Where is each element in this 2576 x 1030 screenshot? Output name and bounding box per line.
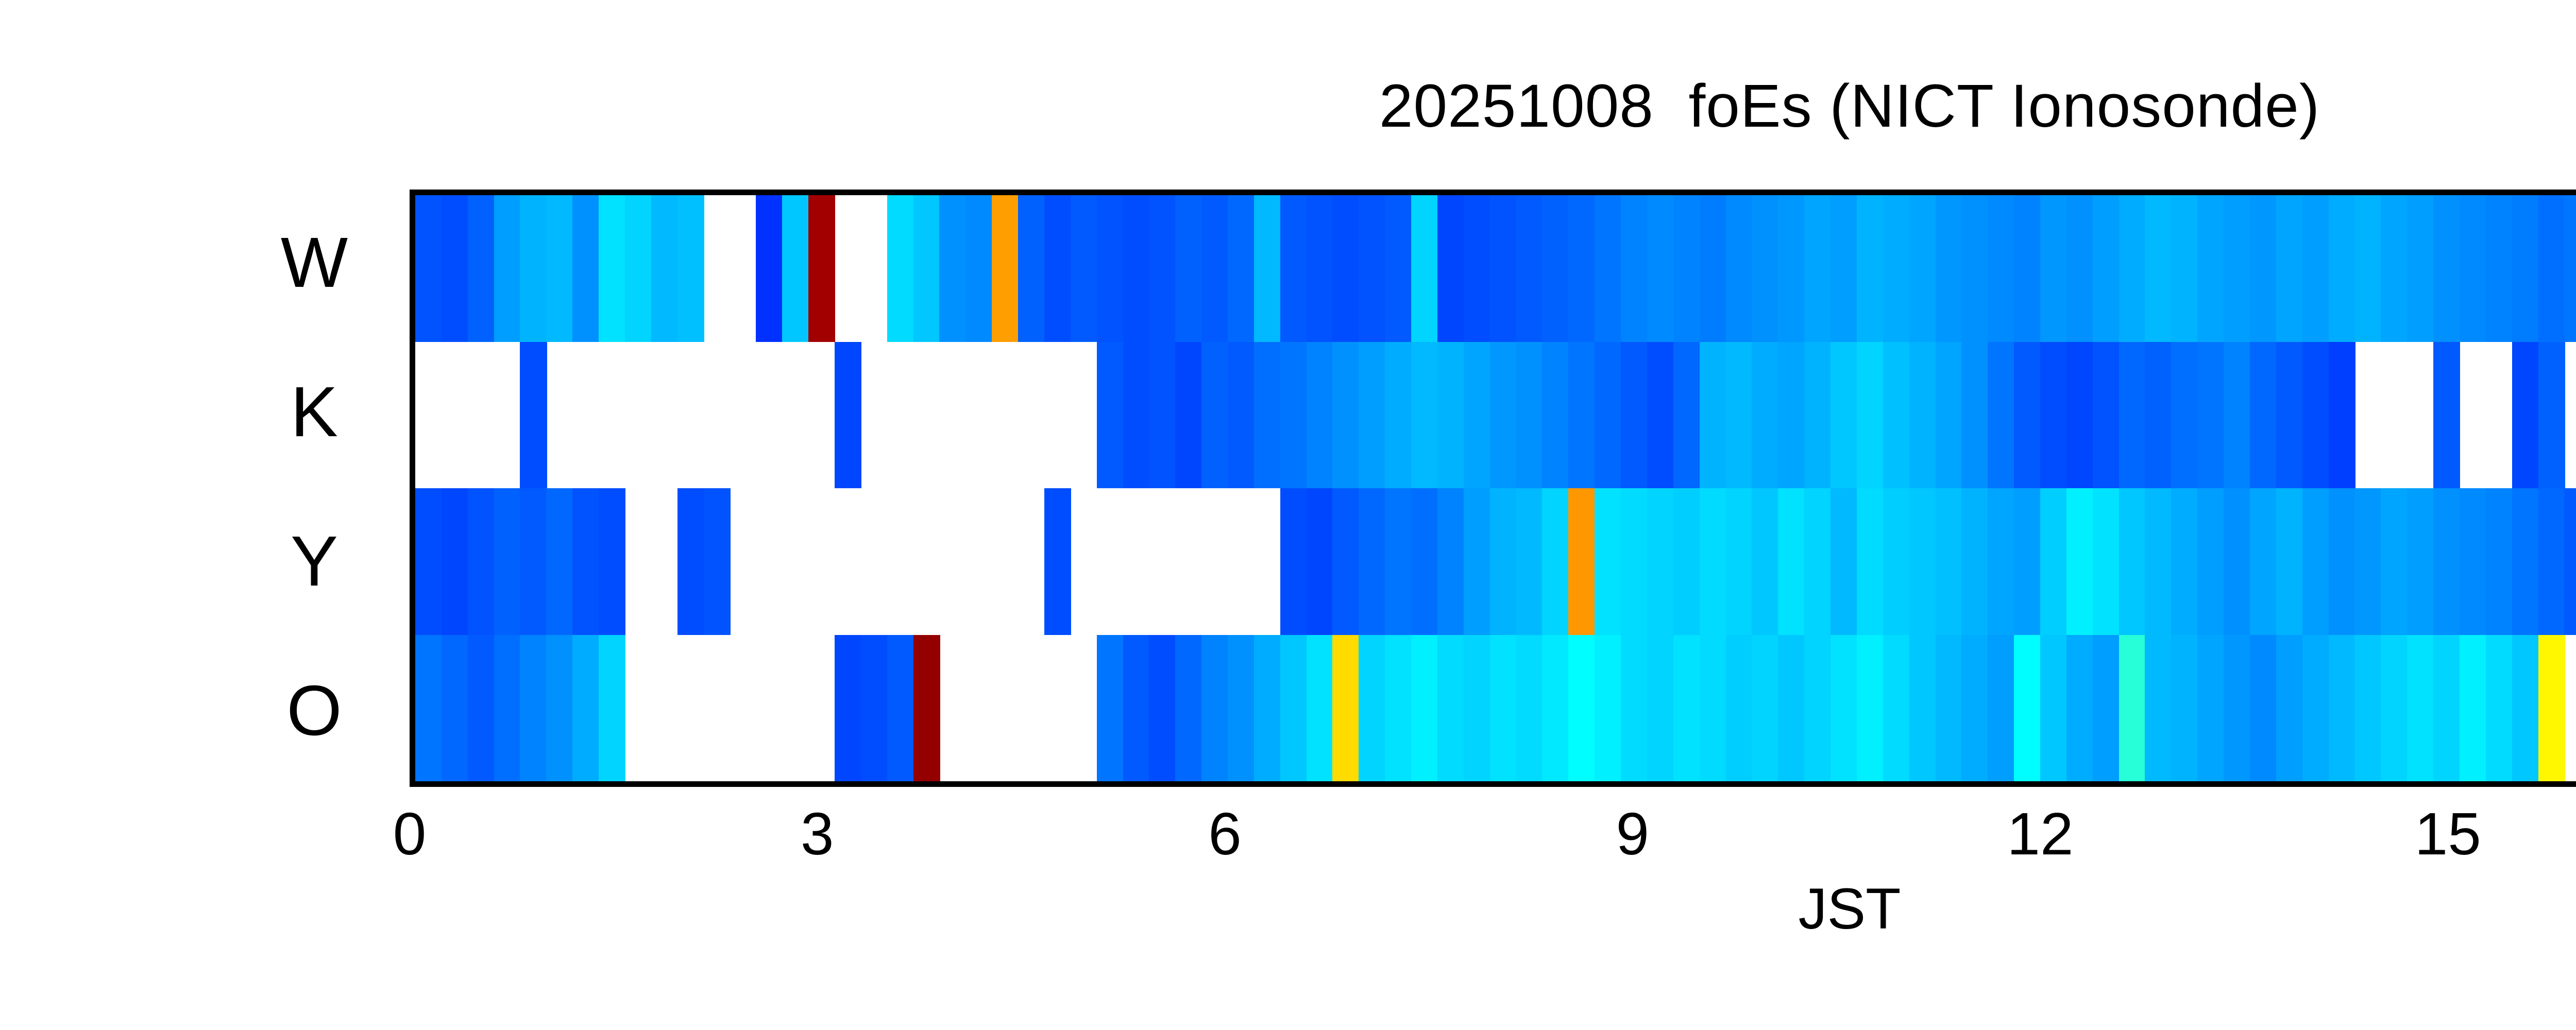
heatmap-cell	[2171, 488, 2198, 635]
heatmap-cell	[2014, 488, 2041, 635]
heatmap-cell	[2329, 488, 2355, 635]
heatmap-cell	[1044, 488, 1071, 635]
heatmap-cell	[1175, 635, 1202, 782]
x-axis-tick-0: 0	[343, 799, 477, 868]
heatmap-cell	[1700, 195, 1726, 342]
heatmap-cell	[2564, 195, 2576, 342]
heatmap-row-track	[415, 195, 2576, 342]
heatmap-cell	[2354, 488, 2381, 635]
heatmap-cell	[2014, 195, 2041, 342]
heatmap-cell	[494, 488, 521, 635]
heatmap-cell	[1359, 488, 1385, 635]
heatmap-row-track	[415, 635, 2576, 782]
heatmap-row-y	[415, 488, 2576, 635]
heatmap-cell	[1700, 635, 1726, 782]
heatmap-cell	[2119, 635, 2146, 782]
heatmap-cell	[1149, 195, 1176, 342]
heatmap-cell	[2433, 635, 2460, 782]
heatmap-cell	[1149, 342, 1176, 489]
heatmap-cell	[1673, 342, 1700, 489]
y-axis-label-k: K	[247, 376, 381, 448]
heatmap-cell	[1097, 342, 1124, 489]
heatmap-cell	[2040, 635, 2067, 782]
heatmap-cell	[1437, 488, 1464, 635]
heatmap-cell	[1673, 635, 1700, 782]
heatmap-cell	[415, 635, 442, 782]
heatmap-cell	[1307, 488, 1333, 635]
heatmap-cell	[2093, 635, 2120, 782]
heatmap-cell	[1857, 342, 1884, 489]
heatmap-cell	[1516, 195, 1543, 342]
heatmap-cell	[1464, 488, 1490, 635]
y-axis-label-o: O	[247, 675, 381, 746]
heatmap-cell	[2171, 342, 2198, 489]
heatmap-cell	[2354, 635, 2381, 782]
heatmap-cell	[1936, 635, 1962, 782]
heatmap-cell	[1228, 635, 1255, 782]
heatmap-cell	[2538, 488, 2565, 635]
heatmap-cell	[2197, 195, 2224, 342]
heatmap-cell	[1411, 195, 1438, 342]
heatmap-cell	[887, 635, 914, 782]
heatmap-cell	[1595, 488, 1621, 635]
heatmap-cell	[2433, 342, 2460, 489]
heatmap-cell	[1175, 195, 1202, 342]
heatmap-cell	[1359, 195, 1385, 342]
heatmap-cell	[2538, 342, 2565, 489]
heatmap-cell	[2119, 488, 2146, 635]
heatmap-cell	[599, 635, 625, 782]
heatmap-cell	[1909, 342, 1936, 489]
heatmap-cell	[1123, 635, 1150, 782]
heatmap-cell	[1831, 488, 1857, 635]
heatmap-cell	[1201, 342, 1228, 489]
heatmap-cell	[1254, 195, 1281, 342]
heatmap-cell	[2093, 195, 2120, 342]
heatmap-cell	[442, 195, 468, 342]
heatmap-cell	[992, 195, 1019, 342]
x-axis-tick-3: 3	[750, 799, 884, 868]
heatmap-cell	[677, 488, 704, 635]
heatmap-cell	[1359, 342, 1385, 489]
heatmap-cell	[2538, 635, 2565, 782]
heatmap-cell	[2302, 635, 2329, 782]
heatmap-cell	[2512, 635, 2539, 782]
heatmap-cell	[651, 195, 678, 342]
heatmap-cell	[2302, 195, 2329, 342]
heatmap-cell	[2119, 195, 2146, 342]
heatmap-cell	[1778, 635, 1805, 782]
x-axis-tick-15: 15	[2381, 799, 2515, 868]
heatmap-cell	[1097, 635, 1124, 782]
heatmap-cell	[1568, 488, 1595, 635]
heatmap-cell	[2407, 195, 2434, 342]
heatmap-cell	[1595, 635, 1621, 782]
heatmap-cell	[1804, 195, 1831, 342]
heatmap-cell	[913, 195, 940, 342]
heatmap-cell	[1175, 342, 1202, 489]
heatmap-cell	[2040, 342, 2067, 489]
heatmap-cell	[1936, 342, 1962, 489]
heatmap-cell	[1804, 488, 1831, 635]
heatmap-cell	[1464, 195, 1490, 342]
heatmap-cell	[1988, 635, 2014, 782]
heatmap-row-w	[415, 195, 2576, 342]
heatmap-cell	[1883, 195, 1910, 342]
heatmap-row-track	[415, 488, 2576, 635]
heatmap-cell	[599, 488, 625, 635]
heatmap-cell	[2040, 488, 2067, 635]
heatmap-cell	[1385, 195, 1412, 342]
heatmap-cell	[2512, 195, 2539, 342]
heatmap-cell	[1542, 635, 1569, 782]
heatmap-cell	[2093, 342, 2120, 489]
heatmap-cell	[520, 488, 547, 635]
heatmap-cell	[2171, 195, 2198, 342]
x-axis-tick-9: 9	[1566, 799, 1700, 868]
heatmap-cell	[1568, 195, 1595, 342]
heatmap-cell	[2197, 635, 2224, 782]
heatmap-cell	[1411, 342, 1438, 489]
heatmap-cell	[468, 195, 495, 342]
heatmap-cell	[939, 195, 966, 342]
heatmap-cell	[1516, 488, 1543, 635]
heatmap-row-k	[415, 342, 2576, 489]
heatmap-cell	[1332, 488, 1359, 635]
heatmap-cell	[2197, 488, 2224, 635]
heatmap-cell	[572, 488, 599, 635]
heatmap-cell	[572, 195, 599, 342]
heatmap-cell	[1647, 488, 1674, 635]
heatmap-cell	[1883, 488, 1910, 635]
heatmap-cell	[1726, 195, 1753, 342]
figure-title: 20251008 foEs (NICT Ionosonde)	[0, 71, 2576, 141]
heatmap-cell	[1516, 342, 1543, 489]
heatmap-rows	[415, 195, 2576, 781]
heatmap-cell	[1961, 635, 1988, 782]
heatmap-cell	[1044, 195, 1071, 342]
heatmap-cell	[1700, 488, 1726, 635]
heatmap-cell	[887, 195, 914, 342]
heatmap-cell	[1071, 195, 1097, 342]
heatmap-cell	[2250, 342, 2277, 489]
heatmap-cell	[1097, 195, 1124, 342]
heatmap-cell	[468, 635, 495, 782]
heatmap-cell	[2145, 195, 2172, 342]
heatmap-cell	[1568, 635, 1595, 782]
heatmap-cell	[1280, 488, 1307, 635]
heatmap-cell	[1726, 488, 1753, 635]
heatmap-cell	[1359, 635, 1385, 782]
heatmap-cell	[625, 195, 652, 342]
heatmap-cell	[1988, 488, 2014, 635]
heatmap-cell	[1647, 635, 1674, 782]
heatmap-cell	[1464, 342, 1490, 489]
heatmap-cell	[2329, 195, 2355, 342]
heatmap-cell	[494, 195, 521, 342]
heatmap-cell	[2329, 635, 2355, 782]
heatmap-cell	[1228, 195, 1255, 342]
heatmap-cell	[2040, 195, 2067, 342]
heatmap-cell	[782, 195, 809, 342]
heatmap-cell	[835, 342, 861, 489]
heatmap-cell	[1254, 635, 1281, 782]
heatmap-cell	[1857, 635, 1884, 782]
y-axis-label-w: W	[247, 227, 381, 298]
heatmap-cell	[2302, 488, 2329, 635]
heatmap-cell	[756, 195, 783, 342]
heatmap-cell	[1700, 342, 1726, 489]
heatmap-cell	[2171, 635, 2198, 782]
heatmap-cell	[1595, 342, 1621, 489]
heatmap-cell	[1909, 195, 1936, 342]
heatmap-cell	[546, 488, 573, 635]
heatmap-cell	[2224, 488, 2250, 635]
heatmap-cell	[2433, 488, 2460, 635]
heatmap-cell	[2119, 342, 2146, 489]
heatmap-cell	[1804, 635, 1831, 782]
heatmap-cell	[2276, 195, 2303, 342]
heatmap-cell	[1647, 342, 1674, 489]
heatmap-cell	[2329, 342, 2355, 489]
heatmap-cell	[2145, 488, 2172, 635]
heatmap-cell	[520, 195, 547, 342]
heatmap-cell	[1307, 635, 1333, 782]
figure-root: 20251008 foEs (NICT Ionosonde) WKYO 0369…	[0, 0, 2576, 1030]
heatmap-cell	[2066, 342, 2093, 489]
heatmap-cell	[2486, 635, 2513, 782]
heatmap-cell	[965, 195, 992, 342]
heatmap-cell	[1804, 342, 1831, 489]
heatmap-cell	[1673, 488, 1700, 635]
heatmap-cell	[546, 635, 573, 782]
heatmap-cell	[913, 635, 940, 782]
heatmap-cell	[2093, 488, 2120, 635]
heatmap-cell	[2145, 342, 2172, 489]
heatmap-cell	[1726, 342, 1753, 489]
heatmap-cell	[1437, 635, 1464, 782]
heatmap-cell	[2145, 635, 2172, 782]
heatmap-cell	[1778, 488, 1805, 635]
heatmap-cell	[415, 488, 442, 635]
heatmap-cell	[1909, 635, 1936, 782]
heatmap-cell	[2250, 488, 2277, 635]
heatmap-cell	[1778, 195, 1805, 342]
heatmap-cell	[1332, 635, 1359, 782]
heatmap-cell	[677, 195, 704, 342]
heatmap-cell	[1332, 195, 1359, 342]
heatmap-cell	[1437, 342, 1464, 489]
heatmap-cell	[1280, 635, 1307, 782]
heatmap-cell	[1831, 635, 1857, 782]
heatmap-row-track	[415, 342, 2576, 489]
heatmap-cell	[1542, 195, 1569, 342]
heatmap-cell	[520, 342, 547, 489]
heatmap-cell	[1961, 342, 1988, 489]
heatmap-cell	[1385, 342, 1412, 489]
heatmap-cell	[1647, 195, 1674, 342]
heatmap-cell	[2302, 342, 2329, 489]
heatmap-cell	[835, 635, 861, 782]
heatmap-cell	[2381, 488, 2408, 635]
heatmap-cell	[2512, 488, 2539, 635]
heatmap-cell	[2250, 635, 2277, 782]
heatmap-cell	[1961, 195, 1988, 342]
heatmap-cell	[1568, 342, 1595, 489]
heatmap-cell	[1621, 195, 1648, 342]
heatmap-cell	[1437, 195, 1464, 342]
x-axis-tick-12: 12	[1973, 799, 2107, 868]
heatmap-cell	[1883, 635, 1910, 782]
heatmap-cell	[572, 635, 599, 782]
heatmap-cell	[1201, 195, 1228, 342]
heatmap-cell	[2407, 635, 2434, 782]
heatmap-cell	[1464, 635, 1490, 782]
heatmap-cell	[1726, 635, 1753, 782]
heatmap-cell	[1123, 195, 1150, 342]
heatmap-cell	[1936, 488, 1962, 635]
heatmap-cell	[546, 195, 573, 342]
heatmap-cell	[2381, 635, 2408, 782]
heatmap-cell	[1673, 195, 1700, 342]
heatmap-cell	[415, 195, 442, 342]
heatmap-cell	[2276, 342, 2303, 489]
heatmap-cell	[599, 195, 625, 342]
heatmap-cell	[1018, 195, 1045, 342]
heatmap-cell	[2433, 195, 2460, 342]
heatmap-cell	[1621, 488, 1648, 635]
heatmap-cell	[1621, 635, 1648, 782]
heatmap-cell	[1752, 195, 1778, 342]
heatmap-cell	[1307, 195, 1333, 342]
heatmap-cell	[1909, 488, 1936, 635]
heatmap-cell	[468, 488, 495, 635]
heatmap-cell	[1254, 342, 1281, 489]
heatmap-cell	[1332, 342, 1359, 489]
heatmap-cell	[520, 635, 547, 782]
heatmap-cell	[2564, 488, 2576, 635]
heatmap-cell	[1961, 488, 1988, 635]
heatmap-cell	[1542, 342, 1569, 489]
heatmap-cell	[494, 635, 521, 782]
heatmap-cell	[1307, 342, 1333, 489]
heatmap-cell	[1831, 342, 1857, 489]
heatmap-cell	[2354, 195, 2381, 342]
heatmap-cell	[1280, 342, 1307, 489]
y-axis-label-y: Y	[247, 526, 381, 597]
heatmap-cell	[1988, 342, 2014, 489]
heatmap-cell	[2224, 342, 2250, 489]
heatmap-cell	[1936, 195, 1962, 342]
heatmap-cell	[2512, 342, 2539, 489]
heatmap-cell	[1988, 195, 2014, 342]
heatmap-cell	[1201, 635, 1228, 782]
heatmap-cell	[442, 488, 468, 635]
heatmap-cell	[1385, 635, 1412, 782]
heatmap-cell	[704, 488, 731, 635]
heatmap-cell	[2014, 342, 2041, 489]
heatmap-cell	[2486, 195, 2513, 342]
heatmap-cell	[2460, 635, 2486, 782]
heatmap-cell	[2066, 635, 2093, 782]
heatmap-cell	[1621, 342, 1648, 489]
heatmap-cell	[808, 195, 835, 342]
heatmap-plot-area	[410, 190, 2576, 787]
heatmap-cell	[2276, 635, 2303, 782]
heatmap-cell	[2460, 195, 2486, 342]
x-axis-tick-6: 6	[1158, 799, 1292, 868]
heatmap-cell	[2460, 488, 2486, 635]
heatmap-cell	[1411, 635, 1438, 782]
heatmap-cell	[1831, 195, 1857, 342]
heatmap-cell	[1385, 488, 1412, 635]
heatmap-cell	[1123, 342, 1150, 489]
heatmap-cell	[2250, 195, 2277, 342]
heatmap-cell	[1752, 635, 1778, 782]
heatmap-cell	[1411, 488, 1438, 635]
heatmap-cell	[2014, 635, 2041, 782]
heatmap-cell	[1516, 635, 1543, 782]
heatmap-cell	[1857, 195, 1884, 342]
heatmap-cell	[2486, 488, 2513, 635]
heatmap-cell	[442, 635, 468, 782]
heatmap-row-o	[415, 635, 2576, 782]
x-axis-title: JST	[0, 875, 2576, 942]
heatmap-cell	[2276, 488, 2303, 635]
heatmap-cell	[1280, 195, 1307, 342]
heatmap-cell	[1595, 195, 1621, 342]
heatmap-cell	[2407, 488, 2434, 635]
heatmap-cell	[2224, 635, 2250, 782]
heatmap-cell	[2538, 195, 2565, 342]
heatmap-cell	[1228, 342, 1255, 489]
heatmap-cell	[1490, 488, 1517, 635]
heatmap-cell	[1490, 195, 1517, 342]
heatmap-cell	[1857, 488, 1884, 635]
heatmap-cell	[2224, 195, 2250, 342]
heatmap-cell	[1542, 488, 1569, 635]
heatmap-cell	[2066, 488, 2093, 635]
heatmap-cell	[2066, 195, 2093, 342]
heatmap-cell	[1883, 342, 1910, 489]
heatmap-cell	[1752, 488, 1778, 635]
heatmap-cell	[1490, 342, 1517, 489]
heatmap-cell	[861, 635, 888, 782]
heatmap-cell	[1778, 342, 1805, 489]
heatmap-cell	[1752, 342, 1778, 489]
heatmap-cell	[2381, 195, 2408, 342]
heatmap-cell	[2197, 342, 2224, 489]
heatmap-cell	[1149, 635, 1176, 782]
heatmap-cell	[1490, 635, 1517, 782]
